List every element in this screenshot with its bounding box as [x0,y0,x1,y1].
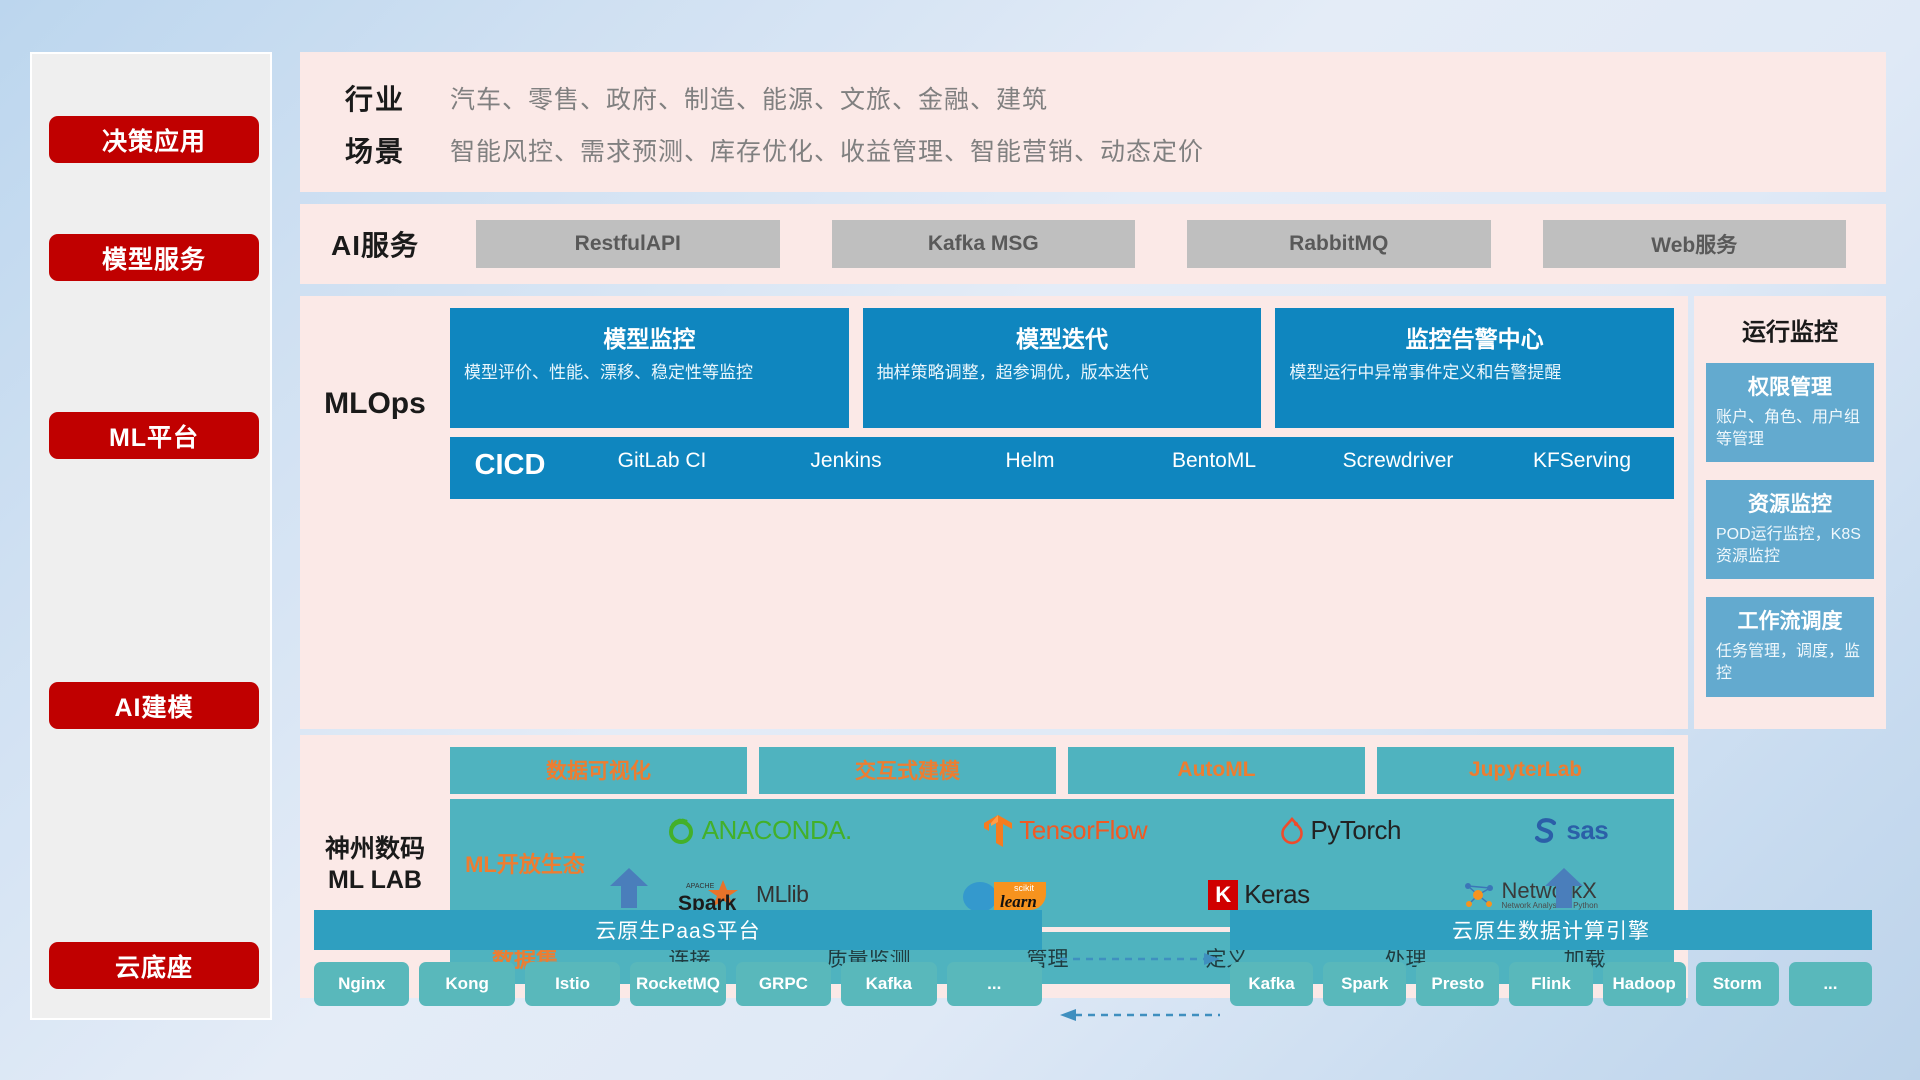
ai-service-band: AI服务 RestfulAPI Kafka MSG RabbitMQ Web服务 [300,204,1886,284]
monitor-card-title: 权限管理 [1716,371,1864,401]
ai-service-chip-kafka-msg[interactable]: Kafka MSG [832,220,1136,268]
ai-service-chip-list: RestfulAPI Kafka MSG RabbitMQ Web服务 [450,220,1886,268]
monitor-card-workflow-scheduling[interactable]: 工作流调度 任务管理，调度，监控 [1706,597,1874,696]
rail-label: 云底座 [115,948,193,984]
ml-lab-tab-jupyterlab[interactable]: JupyterLab [1377,747,1674,794]
rail-item-ai-modeling[interactable]: AI建模 [49,682,259,729]
pytorch-logo: PyTorch [1279,815,1401,846]
monitor-card-desc: 任务管理，调度，监控 [1716,641,1864,684]
architecture-diagram: 决策应用 模型服务 ML平台 AI建模 云底座 行业 汽车、零售、政府、制造、能… [0,0,1920,1080]
monitor-card-desc: POD运行监控，K8S资源监控 [1716,524,1864,567]
logo-row-1: ANACONDA. TensorFlow [600,799,1674,863]
monitor-card-title: 资源监控 [1716,488,1864,518]
rail-label: 决策应用 [102,122,206,158]
sas-logo: sas [1532,815,1608,846]
cicd-item-bentoml[interactable]: BentoML [1122,449,1306,473]
dashed-arrow-right-icon [1060,952,1220,966]
main-column: 行业 汽车、零售、政府、制造、能源、文旅、金融、建筑 场景 智能风控、需求预测、… [300,52,1886,998]
ai-service-chip-web-service[interactable]: Web服务 [1543,220,1847,268]
monitor-card-title: 工作流调度 [1716,605,1864,635]
cloud-chip-istio[interactable]: Istio [525,962,620,1006]
ai-service-chip-restfulapi[interactable]: RestfulAPI [476,220,780,268]
industry-label: 行业 [300,78,450,118]
runtime-monitor-title: 运行监控 [1706,312,1874,347]
rail-item-decision-application[interactable]: 决策应用 [49,116,259,163]
ml-open-ecosystem-label: ML开放生态 [450,847,600,879]
cloud-foundation-section: 云原生PaaS平台 Nginx Kong Istio RocketMQ GRPC… [300,890,1886,1040]
dashed-arrow-left-icon [1060,1008,1220,1022]
mlops-card-desc: 模型运行中异常事件定义和告警提醒 [1289,362,1660,385]
cloud-chip-rocketmq[interactable]: RocketMQ [630,962,725,1006]
mlops-card-title: 监控告警中心 [1289,320,1660,354]
mlops-card-list: 模型监控 模型评价、性能、漂移、稳定性等监控 模型迭代 抽样策略调整，超参调优，… [450,308,1674,428]
cloud-chip-kong[interactable]: Kong [419,962,514,1006]
ml-lab-tab-interactive-modeling[interactable]: 交互式建模 [759,747,1056,794]
mlops-band: MLOps 模型监控 模型评价、性能、漂移、稳定性等监控 模型迭代 抽样策略调整… [300,296,1688,729]
cloud-data-engine-block: 云原生数据计算引擎 Kafka Spark Presto Flink Hadoo… [1230,910,1872,1006]
mlops-label: MLOps [300,308,450,499]
monitor-card-permission-management[interactable]: 权限管理 账户、角色、用户组等管理 [1706,363,1874,462]
cloud-chip-more-data[interactable]: ... [1789,962,1872,1006]
cloud-chip-storm[interactable]: Storm [1696,962,1779,1006]
cloud-chip-grpc[interactable]: GRPC [736,962,831,1006]
ml-lab-label-line1: 神州数码 [325,834,425,865]
anaconda-icon [666,816,696,846]
layer-rail: 决策应用 模型服务 ML平台 AI建模 云底座 [30,52,272,1020]
pytorch-wordmark: PyTorch [1311,815,1401,846]
sas-wordmark: sas [1566,815,1608,846]
rail-label: AI建模 [114,688,193,724]
rail-label: 模型服务 [102,240,206,276]
mlops-card-model-monitoring[interactable]: 模型监控 模型评价、性能、漂移、稳定性等监控 [450,308,849,428]
cloud-chip-kafka-data[interactable]: Kafka [1230,962,1313,1006]
anaconda-logo: ANACONDA. [666,815,852,846]
mlops-and-monitor-row: MLOps 模型监控 模型评价、性能、漂移、稳定性等监控 模型迭代 抽样策略调整… [300,296,1886,729]
cloud-paas-chip-list: Nginx Kong Istio RocketMQ GRPC Kafka ... [314,950,1042,1006]
tensorflow-logo: TensorFlow [983,814,1147,848]
industry-scenario-band: 行业 汽车、零售、政府、制造、能源、文旅、金融、建筑 场景 智能风控、需求预测、… [300,52,1886,192]
cloud-chip-nginx[interactable]: Nginx [314,962,409,1006]
cloud-paas-title: 云原生PaaS平台 [314,910,1042,950]
upward-arrow-icon-right [1545,868,1583,908]
cicd-title: CICD [450,449,570,482]
cicd-item-kfserving[interactable]: KFServing [1490,449,1674,473]
anaconda-wordmark: ANACONDA. [702,815,852,846]
mlops-card-alert-center[interactable]: 监控告警中心 模型运行中异常事件定义和告警提醒 [1275,308,1674,428]
cloud-chip-flink[interactable]: Flink [1509,962,1592,1006]
mlops-card-desc: 抽样策略调整，超参调优，版本迭代 [877,362,1248,385]
spark-apache-text: APACHE [686,883,715,890]
mlops-card-title: 模型迭代 [877,320,1248,354]
monitor-card-desc: 账户、角色、用户组等管理 [1716,407,1864,450]
scenario-label: 场景 [300,130,450,170]
cicd-bar: CICD GitLab CI Jenkins Helm BentoML Scre… [450,437,1674,499]
mlops-card-model-iteration[interactable]: 模型迭代 抽样策略调整，超参调优，版本迭代 [863,308,1262,428]
cicd-item-gitlab-ci[interactable]: GitLab CI [570,449,754,473]
rail-item-ml-platform[interactable]: ML平台 [49,412,259,459]
mlops-card-title: 模型监控 [464,320,835,354]
tensorflow-icon [983,814,1013,848]
cloud-chip-spark[interactable]: Spark [1323,962,1406,1006]
rail-item-cloud-foundation[interactable]: 云底座 [49,942,259,989]
rail-label: ML平台 [109,418,199,454]
cicd-item-jenkins[interactable]: Jenkins [754,449,938,473]
industry-values: 汽车、零售、政府、制造、能源、文旅、金融、建筑 [450,80,1048,116]
pytorch-icon [1279,816,1305,846]
cloud-chip-presto[interactable]: Presto [1416,962,1499,1006]
sas-icon [1532,816,1560,846]
cloud-chip-more-paas[interactable]: ... [947,962,1042,1006]
ml-lab-tab-automl[interactable]: AutoML [1068,747,1365,794]
cloud-chip-kafka[interactable]: Kafka [841,962,936,1006]
cicd-item-screwdriver[interactable]: Screwdriver [1306,449,1490,473]
ml-lab-tab-list: 数据可视化 交互式建模 AutoML JupyterLab [450,747,1674,794]
ml-lab-tab-data-visualization[interactable]: 数据可视化 [450,747,747,794]
cloud-data-engine-title: 云原生数据计算引擎 [1230,910,1872,950]
scenario-row: 场景 智能风控、需求预测、库存优化、收益管理、智能营销、动态定价 [300,124,1886,176]
cloud-chip-hadoop[interactable]: Hadoop [1603,962,1686,1006]
scenario-values: 智能风控、需求预测、库存优化、收益管理、智能营销、动态定价 [450,132,1204,168]
tensorflow-wordmark: TensorFlow [1019,815,1147,846]
monitor-card-resource-monitoring[interactable]: 资源监控 POD运行监控，K8S资源监控 [1706,480,1874,579]
runtime-monitor-panel: 运行监控 权限管理 账户、角色、用户组等管理 资源监控 POD运行监控，K8S资… [1694,296,1886,729]
ai-service-label: AI服务 [300,224,450,264]
cloud-paas-block: 云原生PaaS平台 Nginx Kong Istio RocketMQ GRPC… [314,910,1042,1006]
ai-service-chip-rabbitmq[interactable]: RabbitMQ [1187,220,1491,268]
industry-row: 行业 汽车、零售、政府、制造、能源、文旅、金融、建筑 [300,72,1886,124]
upward-arrow-icon-left [610,868,648,908]
cicd-item-helm[interactable]: Helm [938,449,1122,473]
rail-item-model-service[interactable]: 模型服务 [49,234,259,281]
cloud-data-engine-chip-list: Kafka Spark Presto Flink Hadoop Storm ..… [1230,950,1872,1006]
mlops-card-desc: 模型评价、性能、漂移、稳定性等监控 [464,362,835,385]
